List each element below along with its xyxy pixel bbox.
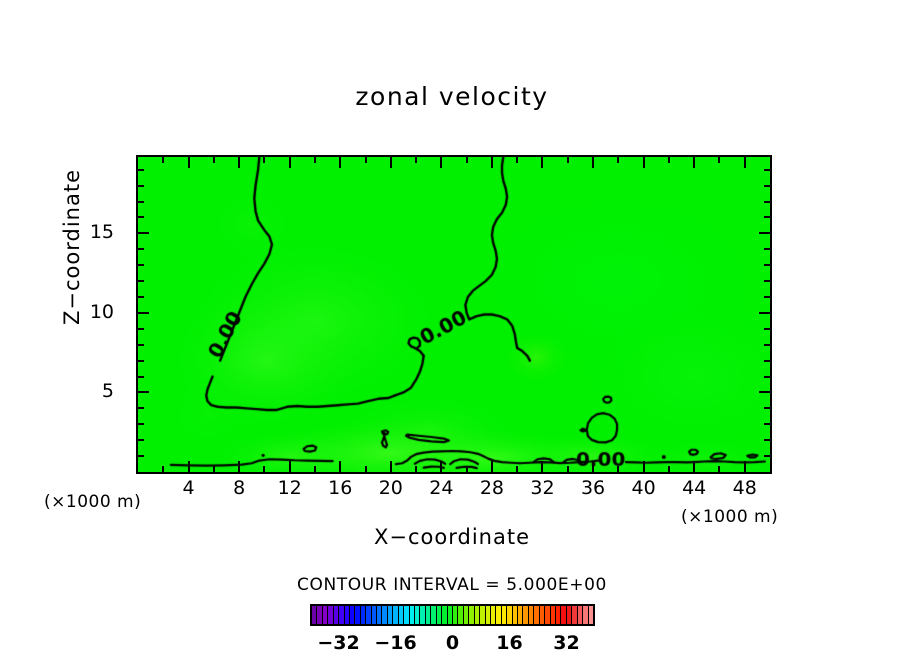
axis-tick	[339, 157, 341, 168]
axis-tick	[466, 157, 468, 163]
axis-tick	[415, 466, 417, 472]
axis-tick	[592, 157, 594, 168]
axis-tick	[764, 360, 770, 362]
axis-tick	[764, 280, 770, 282]
axis-tick	[138, 169, 144, 171]
axis-tick	[138, 185, 144, 187]
axis-tick	[365, 466, 367, 472]
axis-tick	[764, 423, 770, 425]
axis-tick	[491, 461, 493, 472]
axis-tick	[365, 157, 367, 163]
x-axis-unit-left: (×1000 m)	[44, 492, 141, 512]
colorbar	[310, 604, 595, 626]
axis-tick	[764, 376, 770, 378]
page-title: zonal velocity	[0, 82, 904, 111]
axis-tick	[138, 376, 144, 378]
axis-tick	[592, 461, 594, 472]
axis-tick	[162, 157, 164, 163]
axis-tick	[764, 248, 770, 250]
axis-tick	[764, 169, 770, 171]
x-tick-label: 8	[214, 477, 264, 499]
x-tick-label: 4	[164, 477, 214, 499]
axis-tick	[764, 185, 770, 187]
axis-tick	[617, 157, 619, 163]
x-tick-label: 28	[467, 477, 517, 499]
x-tick-label: 44	[669, 477, 719, 499]
axis-tick	[617, 466, 619, 472]
axis-tick	[491, 157, 493, 168]
x-tick-label: 32	[517, 477, 567, 499]
axis-tick	[138, 280, 144, 282]
x-tick-label: 40	[619, 477, 669, 499]
axis-tick	[289, 157, 291, 168]
axis-tick	[263, 466, 265, 472]
axis-tick	[744, 157, 746, 168]
axis-tick	[213, 466, 215, 472]
axis-tick	[718, 157, 720, 163]
x-tick-label: 16	[315, 477, 365, 499]
axis-tick	[759, 232, 770, 234]
axis-tick	[693, 157, 695, 168]
axis-tick	[440, 461, 442, 472]
axis-tick	[339, 461, 341, 472]
axis-tick	[390, 461, 392, 472]
axis-tick	[314, 157, 316, 163]
axis-tick	[138, 312, 149, 314]
axis-tick	[718, 466, 720, 472]
axis-tick	[466, 466, 468, 472]
axis-tick	[314, 466, 316, 472]
axis-tick	[390, 157, 392, 168]
axis-tick	[567, 466, 569, 472]
axis-tick	[162, 466, 164, 472]
axis-tick	[138, 407, 144, 409]
colorbar-tick-label: 0	[423, 632, 483, 654]
axis-tick	[238, 157, 240, 168]
colorbar-swatches	[312, 606, 593, 624]
axis-tick	[138, 423, 144, 425]
axis-tick	[764, 455, 770, 457]
axis-tick	[138, 201, 144, 203]
contour-plot-canvas	[138, 157, 770, 472]
axis-tick	[138, 360, 144, 362]
axis-tick	[415, 157, 417, 163]
x-axis-unit-right: (×1000 m)	[681, 507, 778, 527]
axis-tick	[138, 216, 144, 218]
axis-tick	[764, 201, 770, 203]
colorbar-tick-label: 32	[537, 632, 597, 654]
axis-tick	[764, 439, 770, 441]
contour-plot-area	[136, 155, 772, 474]
axis-tick	[643, 157, 645, 168]
axis-tick	[567, 157, 569, 163]
axis-tick	[764, 344, 770, 346]
axis-tick	[668, 466, 670, 472]
axis-tick	[138, 344, 144, 346]
axis-tick	[764, 264, 770, 266]
axis-tick	[643, 461, 645, 472]
axis-tick	[138, 391, 149, 393]
axis-tick	[693, 461, 695, 472]
axis-tick	[516, 157, 518, 163]
axis-tick	[138, 232, 149, 234]
axis-tick	[744, 461, 746, 472]
axis-tick	[516, 466, 518, 472]
axis-tick	[541, 157, 543, 168]
axis-tick	[759, 391, 770, 393]
axis-tick	[764, 296, 770, 298]
axis-tick	[138, 296, 144, 298]
axis-tick	[764, 328, 770, 330]
axis-tick	[138, 455, 144, 457]
axis-tick	[138, 264, 144, 266]
x-tick-label: 36	[568, 477, 618, 499]
axis-tick	[188, 157, 190, 168]
y-tick-label: 5	[74, 380, 114, 402]
colorbar-tick-label: 16	[480, 632, 540, 654]
y-axis-title: Z−coordinate	[60, 157, 84, 337]
axis-tick	[213, 157, 215, 163]
x-tick-label: 12	[265, 477, 315, 499]
axis-tick	[764, 216, 770, 218]
axis-tick	[440, 157, 442, 168]
x-tick-label: 48	[720, 477, 770, 499]
x-axis-title: X−coordinate	[0, 525, 904, 549]
axis-tick	[759, 312, 770, 314]
axis-tick	[138, 248, 144, 250]
colorbar-tick-label: −32	[309, 632, 369, 654]
axis-tick	[138, 439, 144, 441]
axis-tick	[764, 407, 770, 409]
colorbar-tick-label: −16	[366, 632, 426, 654]
axis-tick	[289, 461, 291, 472]
axis-tick	[188, 461, 190, 472]
axis-tick	[541, 461, 543, 472]
axis-tick	[668, 157, 670, 163]
axis-tick	[263, 157, 265, 163]
colorbar-swatch	[589, 606, 593, 624]
x-tick-label: 24	[416, 477, 466, 499]
axis-tick	[138, 328, 144, 330]
axis-tick	[238, 461, 240, 472]
contour-interval-text: CONTOUR INTERVAL = 5.000E+00	[0, 575, 904, 595]
x-tick-label: 20	[366, 477, 416, 499]
